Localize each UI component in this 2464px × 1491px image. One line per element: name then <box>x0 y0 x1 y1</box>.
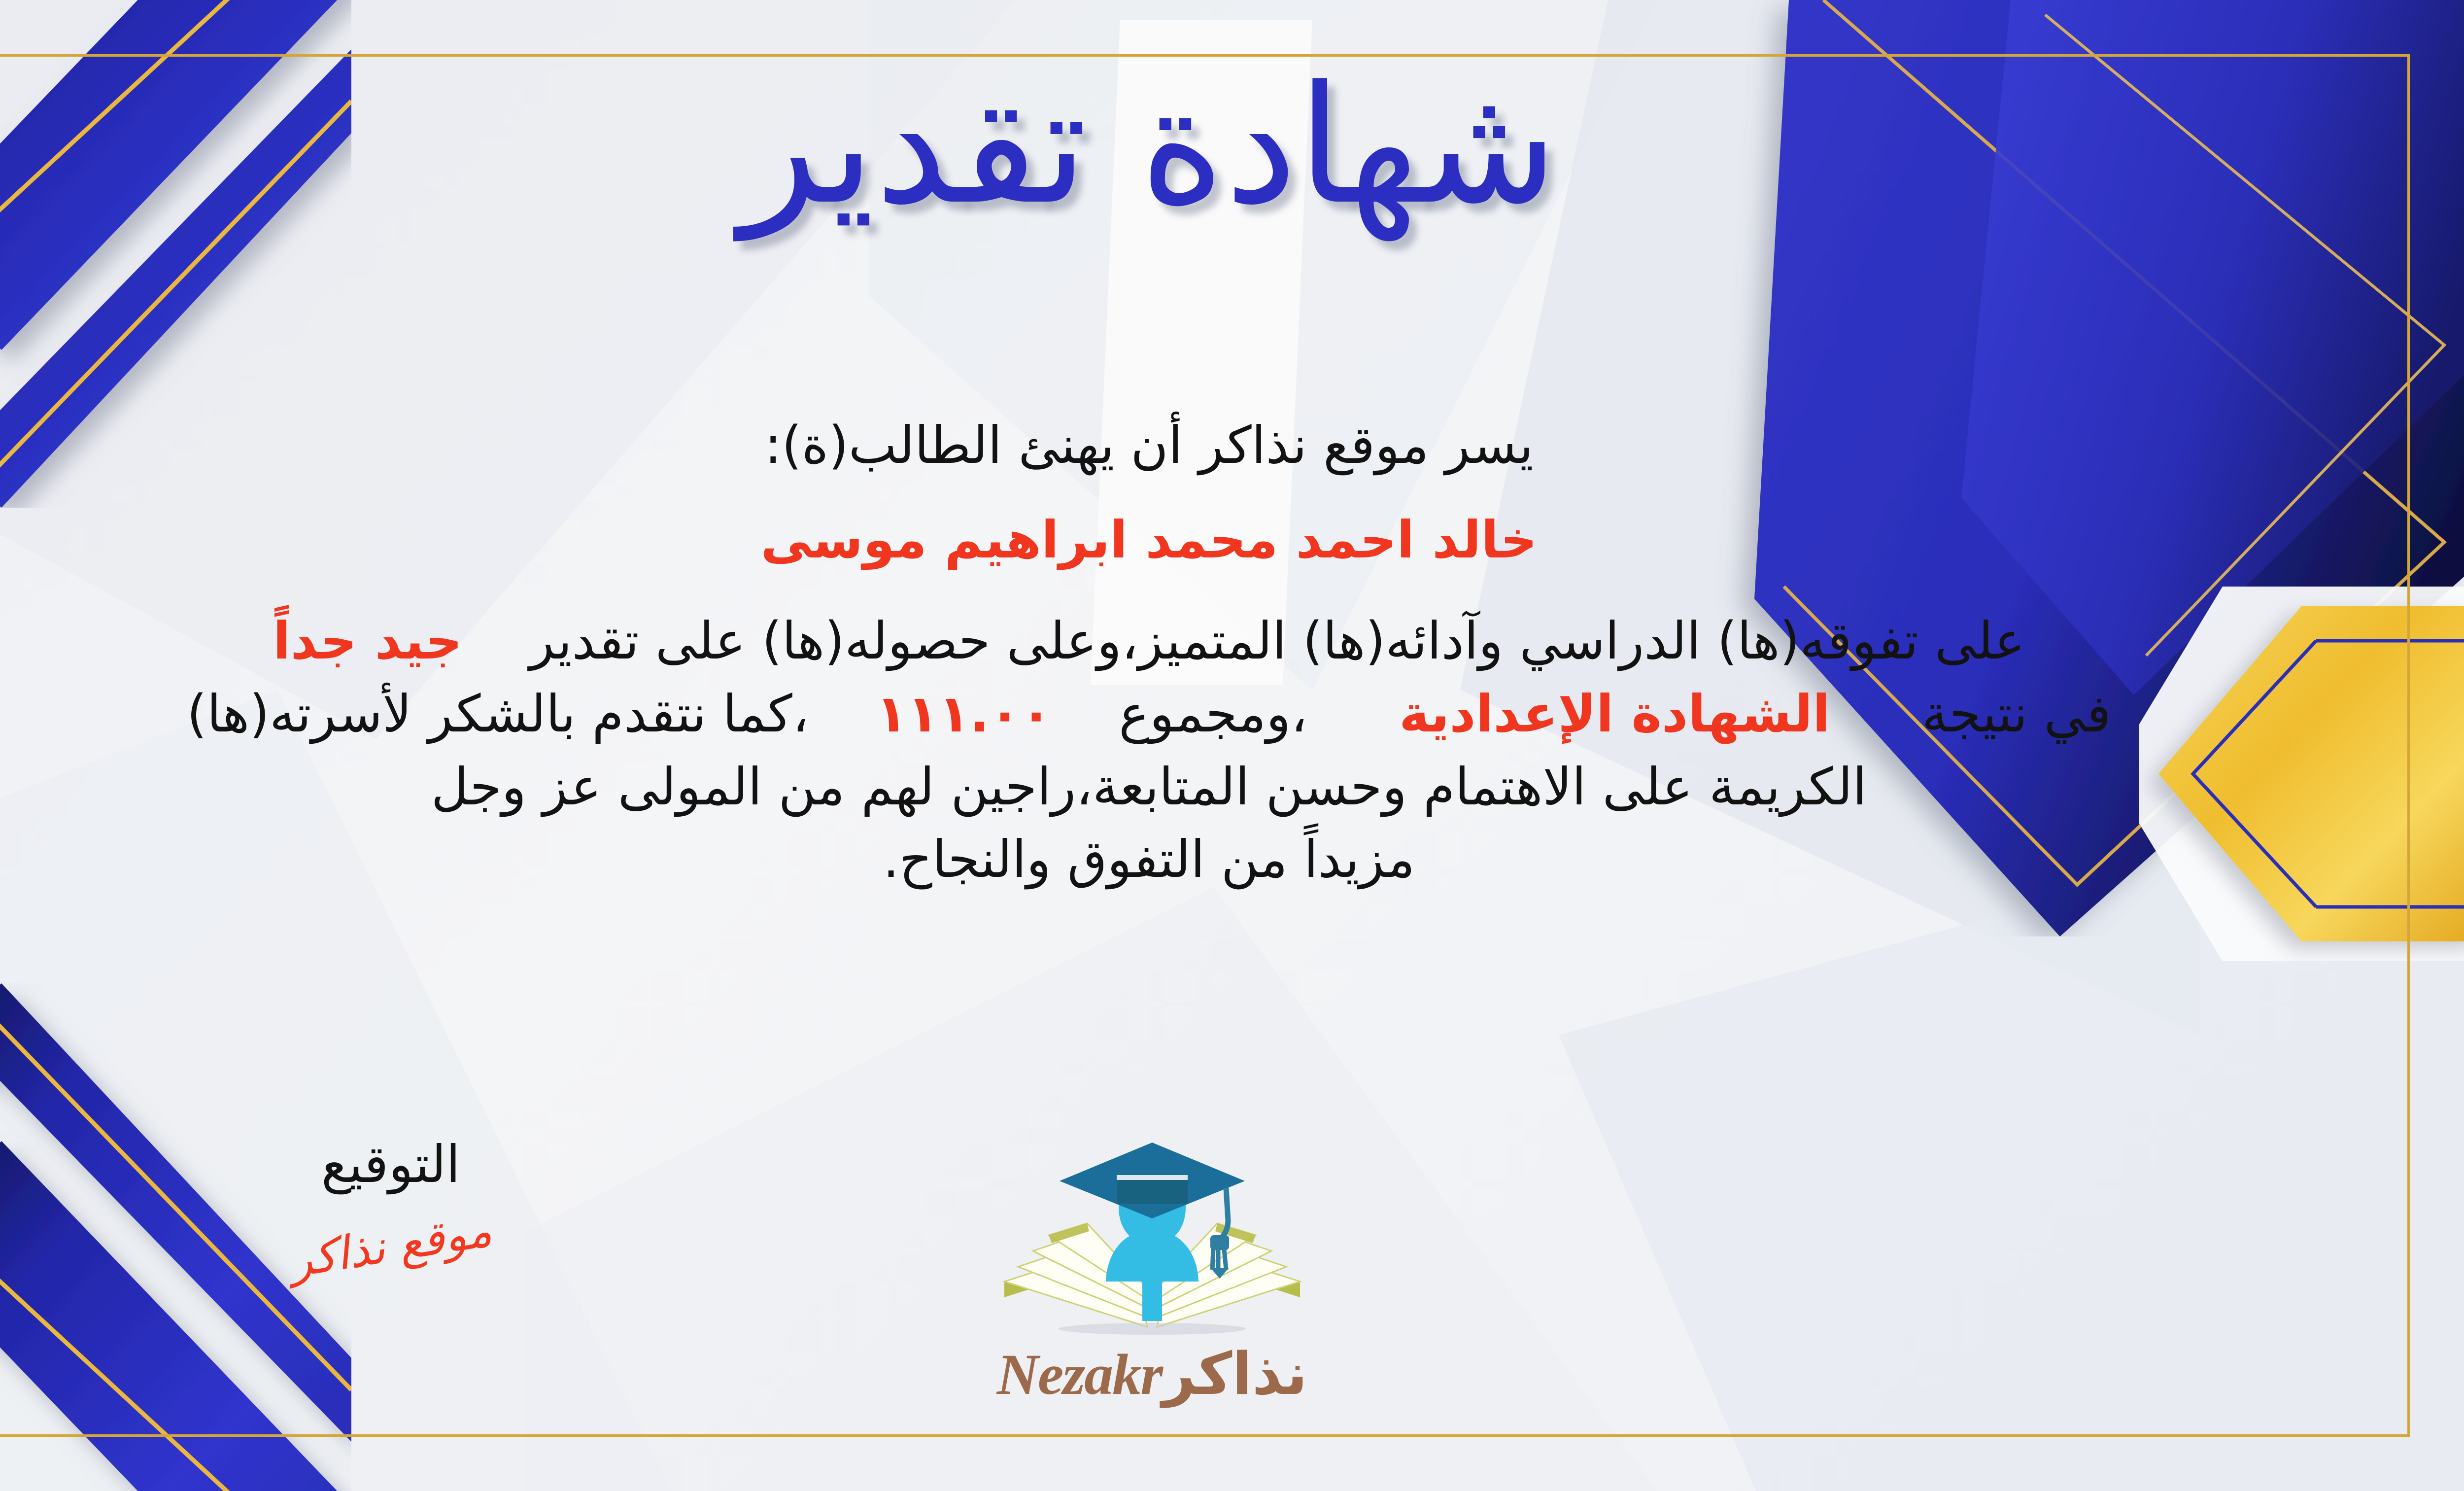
grade-value: جيد جداً <box>273 611 462 671</box>
result-prefix: في نتيجة <box>1922 684 2111 744</box>
family-thanks-line: الكريمة على الاهتمام وحسن المتابعة،راجين… <box>0 751 2375 824</box>
exam-name: الشهادة الإعدادية <box>1399 684 1830 744</box>
signature-scribble: موقع نذاكر <box>286 1204 496 1287</box>
logo-name-en: Nezakr <box>997 1342 1162 1407</box>
closing-line: مزيداً من التفوق والنجاح. <box>0 823 2375 896</box>
achievement-text: على تفوقه(ها) الدراسي وآدائه(ها) المتميز… <box>529 611 2025 671</box>
thanks-text: ،كما نتقدم بالشكر لأسرته(ها) <box>187 684 809 744</box>
logo-wordmark: نذاكرNezakr <box>975 1340 1330 1408</box>
logo-name-ar: نذاكر <box>1162 1340 1307 1408</box>
page-title: شهادة تقدير <box>0 64 2464 227</box>
result-line: في نتيجة الشهادة الإعدادية ،ومجموع ١١١.٠… <box>0 678 2375 751</box>
graduate-on-book-icon <box>975 1134 1330 1341</box>
signature-block: التوقيع موقع نذاكر <box>218 1139 563 1272</box>
certificate-page: شهادة تقدير يسر موقع نذاكر أن يهنئ الطال… <box>0 0 2464 1491</box>
total-score: ١١١.٠٠ <box>876 684 1052 744</box>
site-logo: نذاكرNezakr <box>975 1134 1330 1408</box>
student-name: خالد احمد محمد ابراهيم موسى <box>0 504 2375 577</box>
signature-label: التوقيع <box>218 1139 563 1190</box>
achievement-line: على تفوقه(ها) الدراسي وآدائه(ها) المتميز… <box>0 605 2375 678</box>
certificate-body: يسر موقع نذاكر أن يهنئ الطالب(ة): خالد ا… <box>0 409 2375 896</box>
total-label: ،ومجموع <box>1119 684 1307 744</box>
intro-line: يسر موقع نذاكر أن يهنئ الطالب(ة): <box>0 409 2375 482</box>
